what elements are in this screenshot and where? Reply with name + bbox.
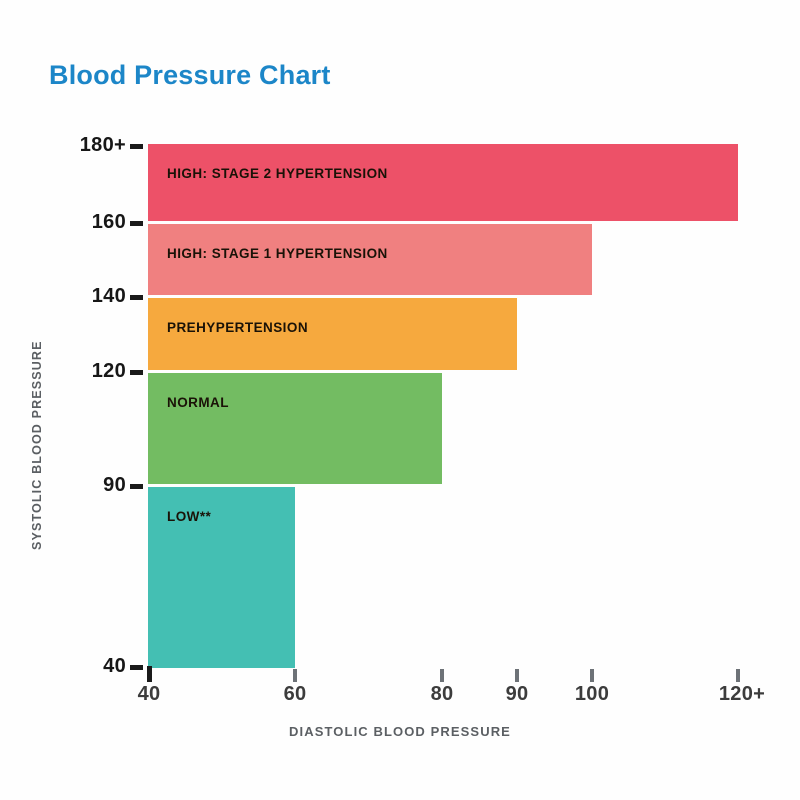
zone-high-stage-1: HIGH: STAGE 1 HYPERTENSION bbox=[148, 221, 595, 295]
x-tick-mark bbox=[736, 669, 740, 682]
y-tick-mark bbox=[130, 370, 143, 375]
x-tick-label: 80 bbox=[431, 683, 454, 706]
x-axis-title: DIASTOLIC BLOOD PRESSURE bbox=[0, 724, 800, 739]
y-tick-label: 90 bbox=[103, 474, 126, 497]
x-tick-mark bbox=[440, 669, 444, 682]
zone-label-prehypertension: PREHYPERTENSION bbox=[167, 320, 308, 335]
zone-label-high-stage-2: HIGH: STAGE 2 HYPERTENSION bbox=[167, 166, 388, 181]
zone-label-high-stage-1: HIGH: STAGE 1 HYPERTENSION bbox=[167, 246, 388, 261]
x-tick-mark bbox=[147, 666, 152, 682]
zone-low: LOW** bbox=[148, 484, 298, 668]
zone-label-low: LOW** bbox=[167, 509, 211, 524]
y-tick-label: 120 bbox=[92, 360, 126, 383]
page-title: Blood Pressure Chart bbox=[49, 60, 331, 91]
chart-plot-area: HIGH: STAGE 2 HYPERTENSION HIGH: STAGE 1… bbox=[148, 144, 738, 668]
y-tick-label: 40 bbox=[103, 655, 126, 678]
x-tick-mark bbox=[293, 669, 297, 682]
y-tick-mark bbox=[130, 295, 143, 300]
x-tick-label: 60 bbox=[284, 683, 307, 706]
y-axis-title: SYSTOLIC BLOOD PRESSURE bbox=[30, 280, 44, 550]
zone-label-normal: NORMAL bbox=[167, 395, 229, 410]
y-tick-mark bbox=[130, 665, 143, 670]
y-tick-label: 160 bbox=[92, 211, 126, 234]
x-tick-label: 40 bbox=[138, 683, 161, 706]
y-tick-mark bbox=[130, 221, 143, 226]
y-tick-mark bbox=[130, 484, 143, 489]
x-tick-label: 100 bbox=[575, 683, 609, 706]
y-tick-mark bbox=[130, 144, 143, 149]
zone-normal: NORMAL bbox=[148, 370, 445, 484]
x-tick-label: 90 bbox=[506, 683, 529, 706]
y-tick-label: 140 bbox=[92, 285, 126, 308]
zone-high-stage-2: HIGH: STAGE 2 HYPERTENSION bbox=[148, 144, 738, 221]
x-tick-mark bbox=[590, 669, 594, 682]
y-tick-label: 180+ bbox=[80, 134, 126, 157]
zone-prehypertension: PREHYPERTENSION bbox=[148, 295, 520, 370]
x-tick-label: 120+ bbox=[719, 683, 765, 706]
x-tick-mark bbox=[515, 669, 519, 682]
